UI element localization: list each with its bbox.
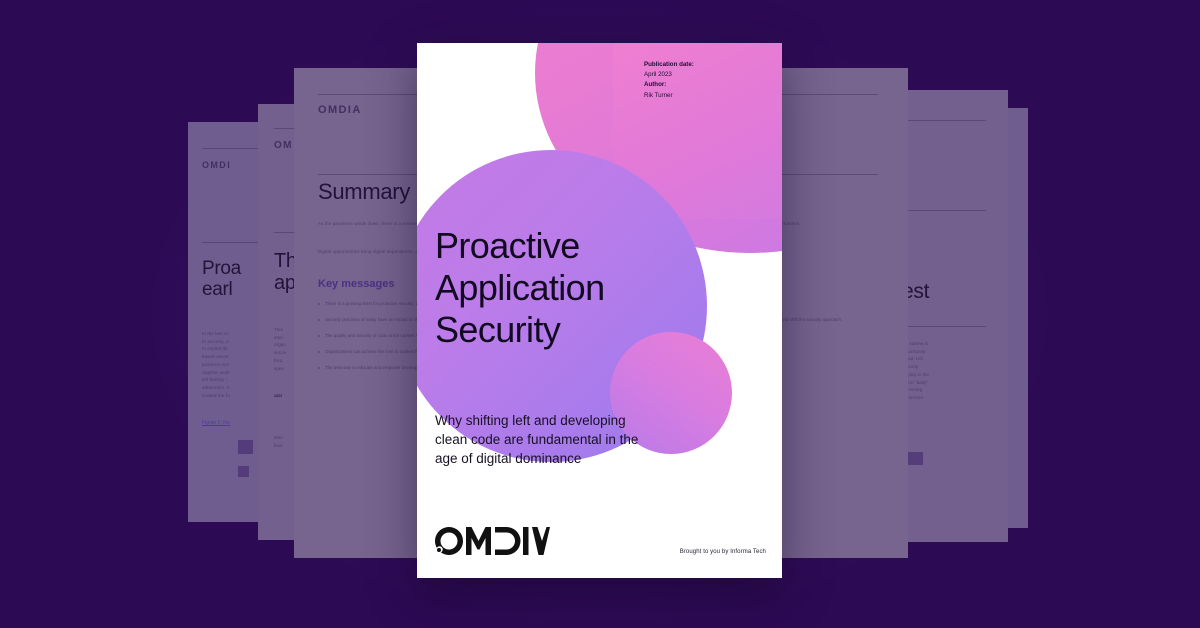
background-page-summary-heading: Summary [318,180,410,205]
report-cover-card: Publication date: April 2023 Author: Rik… [417,43,782,578]
publication-date-value: April 2023 [644,70,764,80]
publication-date-label: Publication date: [644,60,764,70]
cover-title-line: Proactive [435,225,735,267]
cover-title-line: Application [435,267,735,309]
background-page-summary-logo: OMDIA [318,104,362,116]
background-page-left-logo: OM [274,140,293,151]
cover-subtitle: Why shifting left and developing clean c… [435,411,640,468]
author-label: Author: [644,80,764,90]
author-value: Rik Turner [644,91,764,101]
background-page-far-left-link: Figure 1: the [202,420,230,426]
cover-footer-text: Brought to you by Informa Tech [680,549,766,555]
cover-title: Proactive Application Security [435,225,735,350]
background-page-left-quote: ““ [274,392,282,407]
promo-graphic: est we stanneck opportunity situat. Hill… [0,0,1200,628]
background-page-summary-subhead: Key messages [318,278,394,290]
background-page-far-left-logo: OMDI [202,160,231,170]
cover-title-line: Security [435,309,735,351]
cover-metadata: Publication date: April 2023 Author: Rik… [644,60,764,101]
background-page-right-heading: est [902,280,1002,304]
background-page-right-body: we stanneck opportunity situat. Hill sec… [902,340,990,402]
omdia-logo [434,526,550,556]
